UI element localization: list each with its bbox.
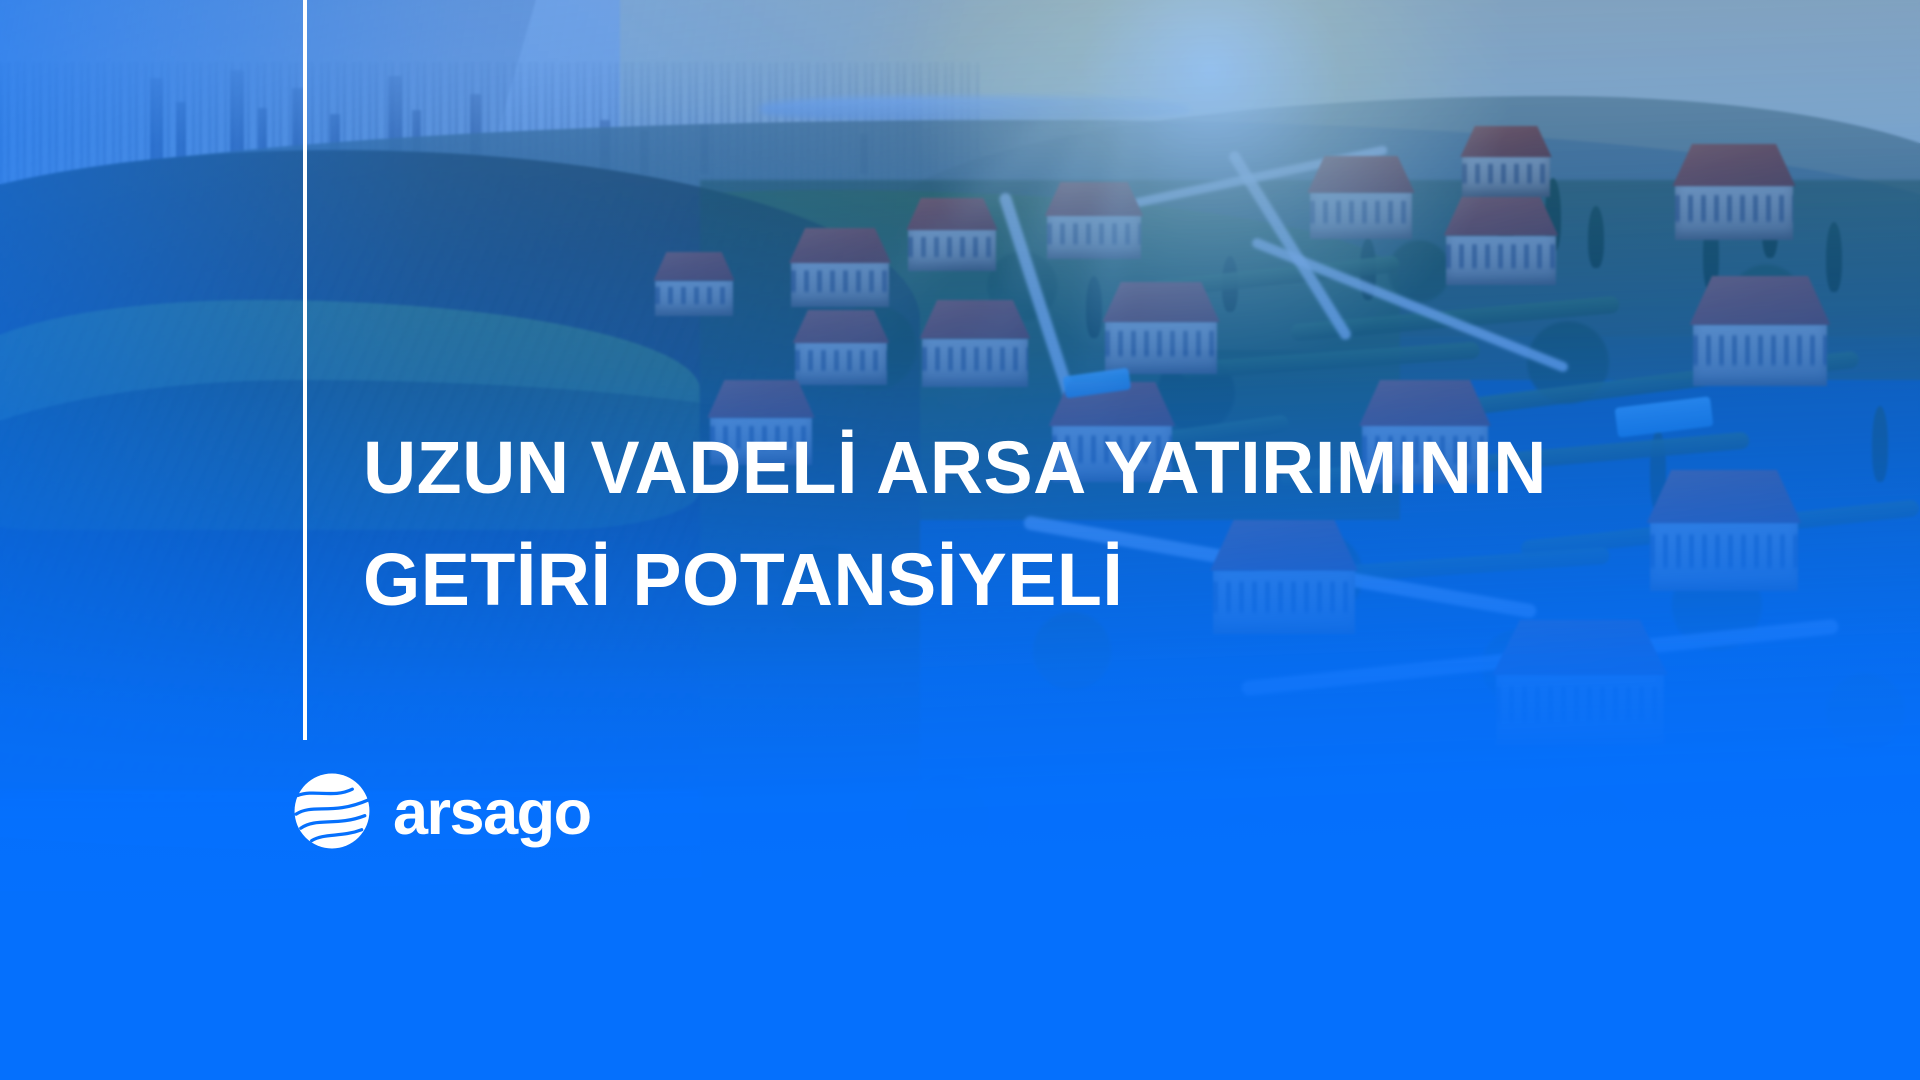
brand-logo[interactable]: arsago bbox=[293, 772, 591, 850]
brand-wordmark: arsago bbox=[393, 782, 591, 845]
headline-line-2: GETİRİ POTANSİYELİ bbox=[363, 524, 1676, 636]
arsago-logo-icon bbox=[293, 772, 371, 850]
headline-line-1: UZUN VADELİ ARSA YATIRIMININ bbox=[363, 412, 1676, 524]
vertical-divider bbox=[303, 0, 307, 740]
social-post-canvas: UZUN VADELİ ARSA YATIRIMININ GETİRİ POTA… bbox=[0, 0, 1920, 1080]
page-title: UZUN VADELİ ARSA YATIRIMININ GETİRİ POTA… bbox=[363, 412, 1683, 636]
